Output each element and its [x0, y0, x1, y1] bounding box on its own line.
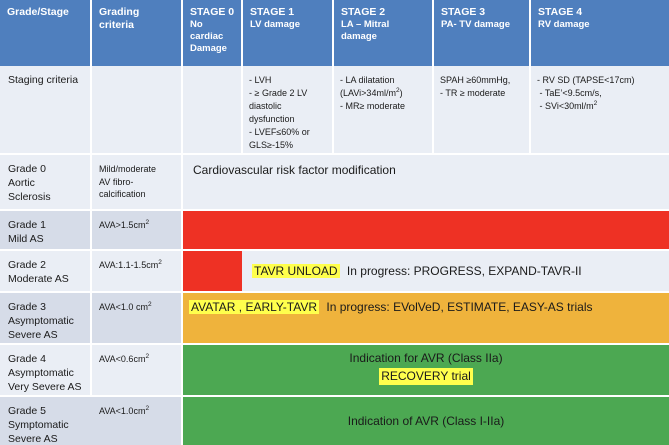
row-grade-2-label: Grade 2Moderate AS	[0, 251, 92, 293]
staging-criteria-stage4-text: - RV SD (TAPSE<17cm) - TaE’<9.5cm/s, - S…	[537, 75, 634, 111]
row-grade-1-label-text: Grade 1Mild AS	[8, 219, 46, 245]
header-stage-2: STAGE 2 LA – Mitral damage	[334, 0, 434, 66]
staging-criteria-stage0	[183, 66, 243, 155]
row-grade-2-trial-highlight: TAVR UNLOAD	[252, 264, 340, 278]
row-grade-3-band: AVATAR , EARLY-TAVR In progress: EVolVeD…	[183, 293, 669, 345]
row-grade-2-criteria: AVA:1.1-1.5cm2	[92, 251, 183, 293]
row-grade-0-band: Cardiovascular risk factor modification	[183, 155, 669, 211]
header-stage-1-title: STAGE 1	[250, 6, 326, 19]
aortic-stenosis-staging-table: Grade/Stage Grading criteria STAGE 0 No …	[0, 0, 669, 445]
row-grade-0-criteria: Mild/moderateAV fibro-calcification	[92, 155, 183, 211]
header-stage-3-title: STAGE 3	[441, 6, 523, 19]
row-grade-5-label: Grade 5SymptomaticSevere AS	[0, 397, 92, 445]
header-grade-stage-title: Grade/Stage	[7, 6, 84, 19]
row-grade-1-band	[183, 211, 669, 251]
header-stage-3-sub: PA- TV damage	[441, 19, 523, 31]
staging-criteria-grading	[92, 66, 183, 155]
row-grade-4-band-text: Indication for AVR (Class IIa)	[349, 350, 502, 367]
staging-criteria-stage3-text: SPAH ≥60mmHg,- TR ≥ moderate	[440, 75, 510, 98]
staging-criteria-label: Staging criteria	[0, 66, 92, 155]
header-stage-0-title: STAGE 0	[190, 6, 235, 19]
row-grade-4-criteria-text: AVA<0.6cm2	[99, 354, 149, 364]
row-grade-0-band-text: Cardiovascular risk factor modification	[193, 162, 396, 179]
header-stage-4-sub: RV damage	[538, 19, 663, 31]
row-grade-5-criteria-text: AVA<1.0cm2	[99, 406, 149, 416]
row-grade-1-criteria-text: AVA>1.5cm2	[99, 220, 149, 230]
header-grading-criteria-title2: criteria	[99, 19, 175, 32]
header-grading-criteria-title: Grading	[99, 6, 175, 19]
row-grade-3-trial-highlight: AVATAR , EARLY-TAVR	[189, 300, 319, 314]
row-grade-1-criteria: AVA>1.5cm2	[92, 211, 183, 251]
header-grading-criteria: Grading criteria	[92, 0, 183, 66]
row-grade-2-band: TAVR UNLOAD In progress: PROGRESS, EXPAN…	[183, 251, 669, 293]
staging-criteria-stage1: - LVH- ≥ Grade 2 LVdiastolicdysfunction-…	[243, 66, 334, 155]
row-grade-2-label-text: Grade 2Moderate AS	[8, 259, 69, 285]
row-grade-3-criteria-text: AVA<1.0 cm2	[99, 302, 152, 312]
row-grade-0-label-text: Grade 0AorticSclerosis	[8, 163, 51, 203]
row-grade-0-label: Grade 0AorticSclerosis	[0, 155, 92, 211]
row-grade-0-criteria-text: Mild/moderateAV fibro-calcification	[99, 164, 156, 199]
row-grade-4-label-text: Grade 4AsymptomaticVery Severe AS	[8, 353, 82, 393]
row-grade-1-label: Grade 1Mild AS	[0, 211, 92, 251]
header-stage-4: STAGE 4 RV damage	[531, 0, 669, 66]
header-stage-3: STAGE 3 PA- TV damage	[434, 0, 531, 66]
header-grade-stage: Grade/Stage	[0, 0, 92, 66]
staging-criteria-stage2: - LA dilatation(LAVi>34ml/m2)- MR≥ moder…	[334, 66, 434, 155]
header-stage-1: STAGE 1 LV damage	[243, 0, 334, 66]
header-stage-2-sub: LA – Mitral damage	[341, 19, 426, 43]
row-grade-2-band-text-wrap: TAVR UNLOAD In progress: PROGRESS, EXPAN…	[242, 263, 582, 280]
row-grade-2-red-block	[183, 251, 242, 291]
staging-criteria-stage1-text: - LVH- ≥ Grade 2 LVdiastolicdysfunction-…	[249, 75, 310, 150]
row-grade-2-criteria-text: AVA:1.1-1.5cm2	[99, 260, 162, 270]
row-grade-2-band-text2: In progress: PROGRESS, EXPAND-TAVR-II	[343, 264, 582, 278]
row-grade-4-trial-highlight: RECOVERY trial	[379, 368, 473, 385]
row-grade-4-criteria: AVA<0.6cm2	[92, 345, 183, 397]
header-stage-2-title: STAGE 2	[341, 6, 426, 19]
row-grade-5-band-text: Indication of AVR (Class I-IIa)	[348, 413, 505, 430]
row-grade-3-label-text: Grade 3AsymptomaticSevere AS	[8, 301, 74, 341]
header-stage-4-title: STAGE 4	[538, 6, 663, 19]
row-grade-5-label-text: Grade 5SymptomaticSevere AS	[8, 405, 69, 445]
row-grade-3-band-text-wrap: AVATAR , EARLY-TAVR In progress: EVolVeD…	[189, 299, 592, 316]
row-grade-3-band-text2: In progress: EVolVeD, ESTIMATE, EASY-AS …	[322, 300, 592, 314]
staging-criteria-stage2-text: - LA dilatation(LAVi>34ml/m2)- MR≥ moder…	[340, 75, 405, 111]
row-grade-4-band: Indication for AVR (Class IIa) RECOVERY …	[183, 345, 669, 397]
row-grade-5-criteria: AVA<1.0cm2	[92, 397, 183, 445]
row-grade-5-band: Indication of AVR (Class I-IIa)	[183, 397, 669, 445]
row-grade-3-label: Grade 3AsymptomaticSevere AS	[0, 293, 92, 345]
staging-criteria-stage3: SPAH ≥60mmHg,- TR ≥ moderate	[434, 66, 531, 155]
header-stage-0-sub: No cardiac Damage	[190, 19, 235, 55]
row-grade-4-label: Grade 4AsymptomaticVery Severe AS	[0, 345, 92, 397]
staging-criteria-stage4: - RV SD (TAPSE<17cm) - TaE’<9.5cm/s, - S…	[531, 66, 669, 155]
row-grade-3-criteria: AVA<1.0 cm2	[92, 293, 183, 345]
header-stage-0: STAGE 0 No cardiac Damage	[183, 0, 243, 66]
staging-criteria-label-text: Staging criteria	[8, 74, 78, 86]
header-stage-1-sub: LV damage	[250, 19, 326, 31]
